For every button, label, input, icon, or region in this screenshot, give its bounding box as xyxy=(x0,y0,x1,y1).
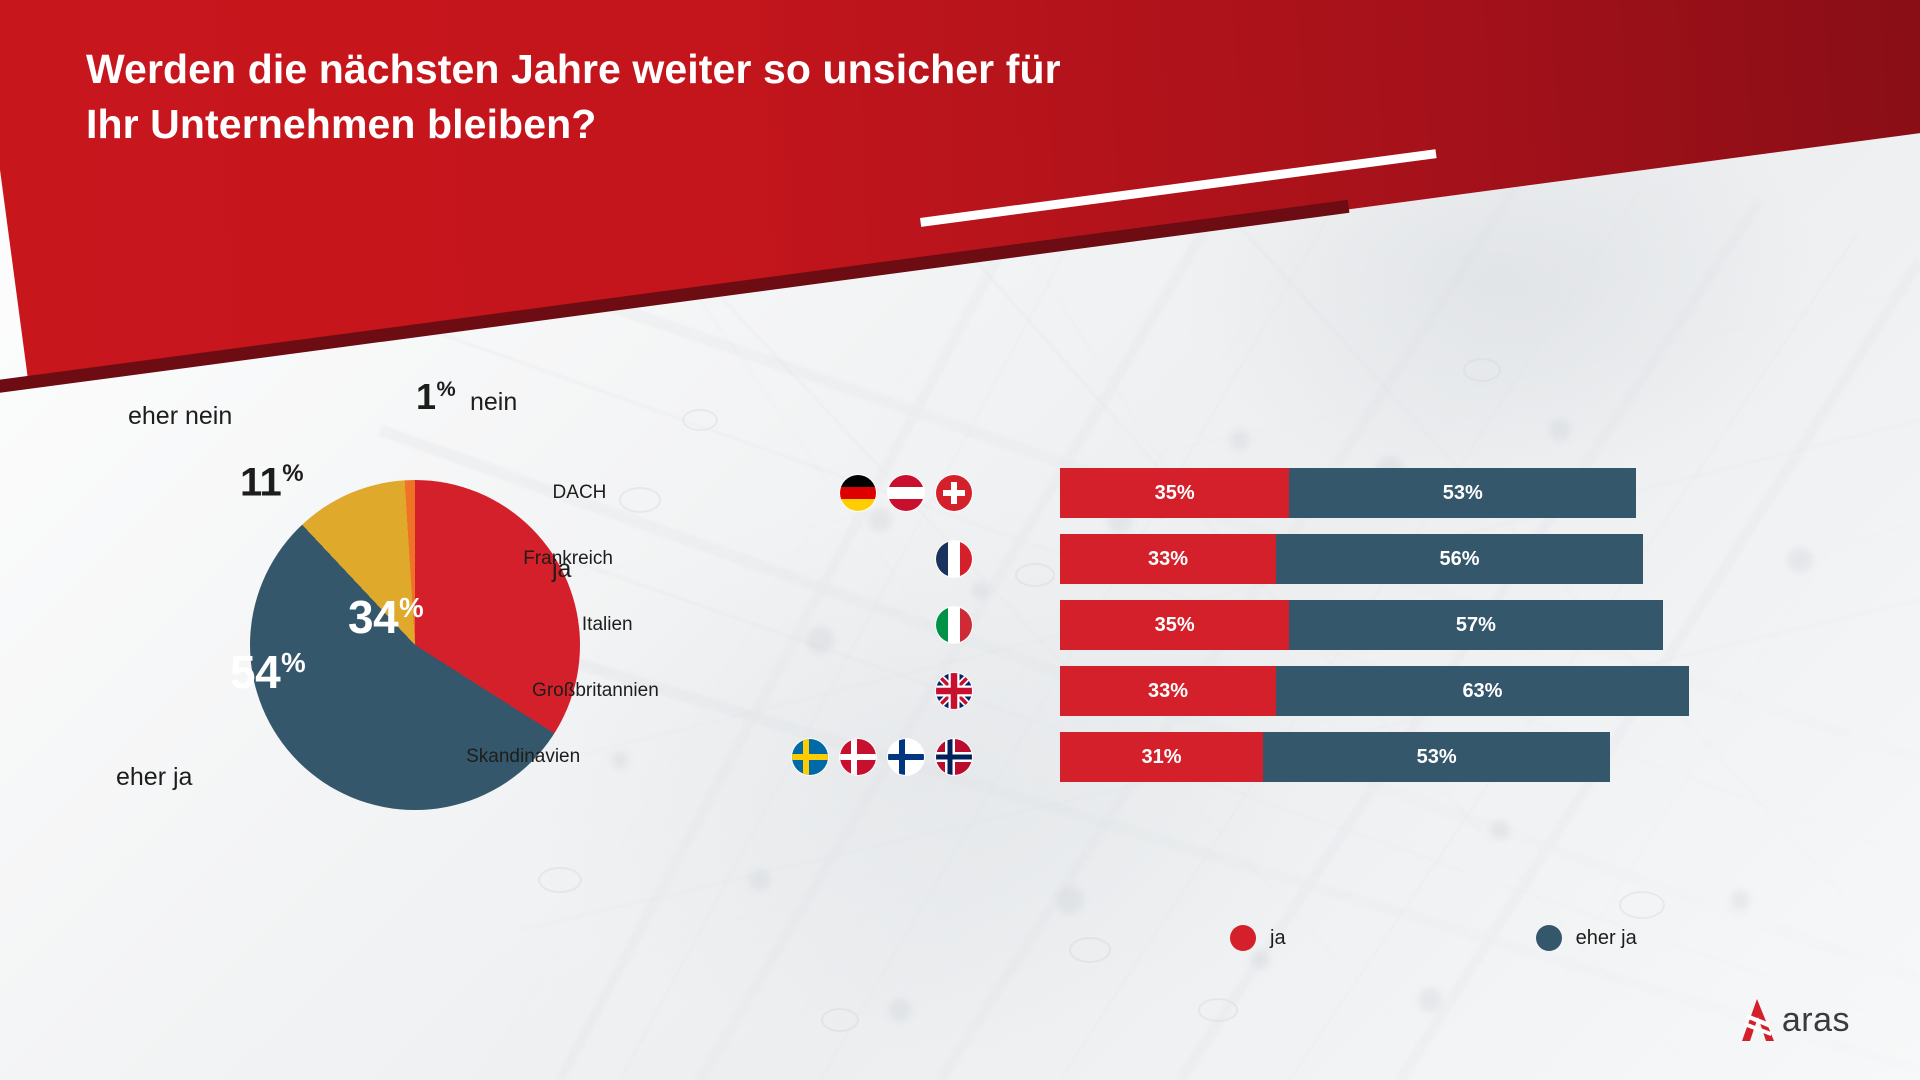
flag-austria-icon xyxy=(888,475,924,511)
aras-logo: aras xyxy=(1740,998,1850,1042)
flag-norway-icon xyxy=(936,739,972,775)
bar-row-label: Frankreich xyxy=(313,548,613,570)
bar-row-label: Großbritannien xyxy=(359,680,659,702)
bar-value-ja: 31% xyxy=(1142,746,1182,769)
bar-value-eher-ja: 57% xyxy=(1456,614,1496,637)
bar-value-ja: 35% xyxy=(1155,614,1195,637)
legend-label: ja xyxy=(1270,927,1286,950)
percent-symbol: % xyxy=(281,647,305,678)
aras-logo-mark-icon xyxy=(1740,998,1776,1042)
bar-row: DACH35%53% xyxy=(1060,468,1636,518)
bar-row: Großbritannien33%63% xyxy=(1060,666,1689,716)
legend-dot-icon xyxy=(1230,925,1256,951)
flag-united-kingdom-icon xyxy=(936,673,972,709)
page-title: Werden die nächsten Jahre weiter so unsi… xyxy=(86,42,1086,151)
bar-segment-ja: 35% xyxy=(1060,600,1289,650)
percent-symbol: % xyxy=(282,460,303,487)
flag-group-gro-britannien xyxy=(936,668,972,714)
pie-value-eher-ja: 54% xyxy=(230,645,305,699)
flag-switzerland-icon xyxy=(936,475,972,511)
chart-legend: jaeher ja xyxy=(1230,925,1637,951)
flag-germany-icon xyxy=(840,475,876,511)
bar-segment-ja: 33% xyxy=(1060,534,1276,584)
pie-value-eher-nein-number: 11 xyxy=(240,460,281,504)
flag-group-dach xyxy=(840,470,972,516)
bar-segment-eher-ja: 53% xyxy=(1263,732,1610,782)
flag-sweden-icon xyxy=(792,739,828,775)
percent-symbol: % xyxy=(437,376,456,401)
bar-value-eher-ja: 53% xyxy=(1417,746,1457,769)
bar-row-label: Italien xyxy=(333,614,633,636)
bar-value-eher-ja: 56% xyxy=(1440,548,1480,571)
bar-value-ja: 33% xyxy=(1148,680,1188,703)
bar-segment-eher-ja: 56% xyxy=(1276,534,1643,584)
bar-value-ja: 33% xyxy=(1148,548,1188,571)
bar-row: Skandinavien31%53% xyxy=(1060,732,1610,782)
bar-value-ja: 35% xyxy=(1155,482,1195,505)
flag-finland-icon xyxy=(888,739,924,775)
legend-label: eher ja xyxy=(1576,927,1637,950)
flag-france-icon xyxy=(936,541,972,577)
bar-segment-ja: 33% xyxy=(1060,666,1276,716)
bar-row: Frankreich33%56% xyxy=(1060,534,1643,584)
bar-segment-eher-ja: 53% xyxy=(1289,468,1636,518)
pie-label-eher-ja: eher ja xyxy=(116,763,192,792)
aras-logo-text: aras xyxy=(1782,1001,1850,1040)
infographic-canvas: Werden die nächsten Jahre weiter so unsi… xyxy=(0,0,1920,1080)
bar-segment-eher-ja: 57% xyxy=(1289,600,1662,650)
bar-row-label: Skandinavien xyxy=(280,746,580,768)
bar-row-label: DACH xyxy=(306,482,606,504)
bar-value-eher-ja: 63% xyxy=(1462,680,1502,703)
flag-italy-icon xyxy=(936,607,972,643)
legend-item-ja: ja xyxy=(1230,925,1286,951)
pie-value-nein-number: 1 xyxy=(416,376,436,417)
bar-segment-ja: 31% xyxy=(1060,732,1263,782)
pie-label-eher-nein: eher nein xyxy=(128,402,232,431)
bar-segment-ja: 35% xyxy=(1060,468,1289,518)
flag-denmark-icon xyxy=(840,739,876,775)
pie-label-nein: nein xyxy=(470,388,517,417)
bar-row: Italien35%57% xyxy=(1060,600,1663,650)
legend-dot-icon xyxy=(1536,925,1562,951)
flag-group-skandinavien xyxy=(792,734,972,780)
bar-value-eher-ja: 53% xyxy=(1443,482,1483,505)
bar-segment-eher-ja: 63% xyxy=(1276,666,1689,716)
pie-value-nein: 1% xyxy=(416,376,455,418)
flag-group-italien xyxy=(936,602,972,648)
legend-item-eher-ja: eher ja xyxy=(1536,925,1637,951)
pie-value-eher-nein: 11% xyxy=(240,460,303,505)
flag-group-frankreich xyxy=(936,536,972,582)
pie-value-eher-ja-number: 54 xyxy=(230,646,280,698)
